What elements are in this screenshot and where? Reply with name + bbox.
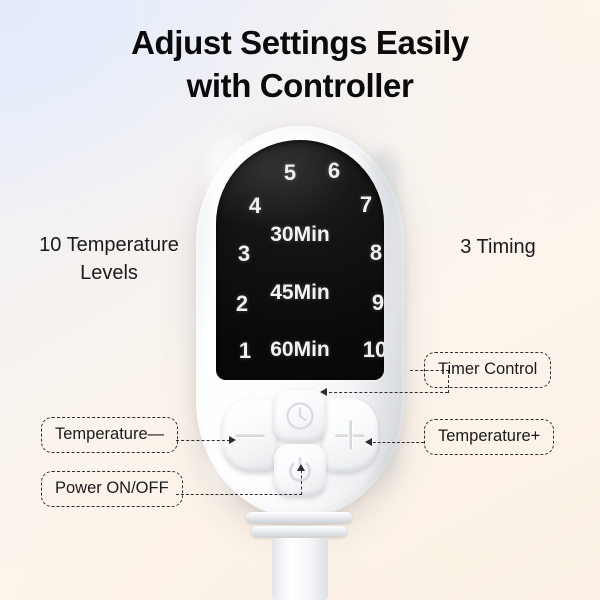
temperature-decrease-button[interactable] <box>222 398 278 472</box>
callout-temperature-increase[interactable]: Temperature+ <box>424 419 554 455</box>
temperature-increase-button[interactable] <box>322 398 378 472</box>
leader-arrow-temp-plus <box>365 438 372 446</box>
level-indicator-6: 6 <box>317 158 351 184</box>
level-indicator-4: 4 <box>238 193 272 219</box>
leader-arrow-temp-minus <box>229 436 236 444</box>
timing-option-60min: 60Min <box>235 338 365 362</box>
callout-temperature-decrease[interactable]: Temperature— <box>41 417 178 453</box>
controller-display: 5 6 4 7 3 8 2 9 1 10 30Min 45Min 60Min <box>216 140 384 380</box>
timing-option-30min: 30Min <box>235 223 365 247</box>
feature-label-timing: 3 Timing <box>418 234 578 262</box>
callout-power-on-off[interactable]: Power ON/OFF <box>41 471 183 507</box>
level-indicator-7: 7 <box>349 192 383 218</box>
leader-line-timer-horizontal <box>324 392 448 393</box>
minus-icon <box>235 433 265 437</box>
stand-segment-bottom <box>251 526 347 537</box>
remote-controller: 5 6 4 7 3 8 2 9 1 10 30Min 45Min 60Min <box>196 126 404 518</box>
clock-icon <box>285 401 315 431</box>
leader-line-power-vertical <box>301 470 302 495</box>
leader-arrow-timer <box>320 388 327 396</box>
plus-icon-vertical <box>348 420 352 450</box>
leader-line-temp-plus <box>368 442 424 443</box>
leader-arrow-power <box>297 464 305 471</box>
stand-segment-top <box>246 512 352 523</box>
page-title-line-2: with Controller <box>0 65 600 108</box>
controller-stand-neck <box>272 538 328 600</box>
page-title-line-1: Adjust Settings Easily <box>131 24 469 61</box>
timer-control-button[interactable] <box>274 390 326 442</box>
timing-option-45min: 45Min <box>235 281 365 305</box>
leader-line-temp-minus <box>176 440 230 441</box>
page-title: Adjust Settings Easily with Controller <box>0 22 600 108</box>
level-indicator-5: 5 <box>273 160 307 186</box>
leader-line-power-horizontal <box>176 494 302 495</box>
callout-timer-control[interactable]: Timer Control <box>424 352 551 388</box>
feature-label-temperature-levels: 10 Temperature Levels <box>14 232 204 287</box>
